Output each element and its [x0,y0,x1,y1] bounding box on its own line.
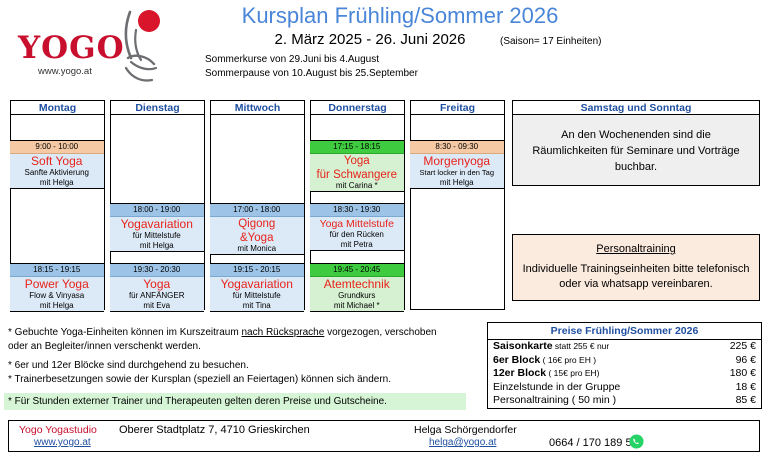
day-body-mittwoch: 17:00 - 18:00 Qigong &Yoga mit Monica 19… [210,115,305,310]
slot-time: 17:00 - 18:00 [210,204,304,217]
price-row: Einzelstunde in der Gruppe 18 € [488,381,761,395]
price-label-bold: Saisonkarte [493,340,553,352]
weekend-title: Samstag und Sonntag [512,100,760,115]
weekend-line-2: Räumlichkeiten für Seminare und Vorträge [519,143,753,159]
slot-description: Start locker in den Tag [410,168,504,178]
note-item: * Trainerbesetzungen sowie der Kursplan … [8,373,473,387]
slot-class-name: Atemtechnik [310,277,404,291]
slot-trainer: mit Petra [310,240,404,250]
schedule-grid: Montag 9:00 - 10:00 Soft Yoga Sanfte Akt… [0,100,768,315]
slot-class-name: Qigong [210,217,304,231]
whatsapp-icon[interactable] [629,434,644,449]
day-column-montag: Montag 9:00 - 10:00 Soft Yoga Sanfte Akt… [10,100,105,310]
slot-description: Grundkurs [310,291,404,301]
price-row: Saisonkarte statt 255 € nur 225 € [488,340,761,354]
footer-address: Oberer Stadtplatz 7, 4710 Grieskirchen [119,424,310,436]
day-column-dienstag: Dienstag 18:00 - 19:00 Yogavariation für… [110,100,205,310]
slot-description: Flow & Vinyasa [10,291,104,301]
price-value: 18 € [736,381,756,395]
price-label-rest: Personaltraining ( 50 min ) [493,394,616,406]
footer-website-link[interactable]: www.yogo.at [34,437,91,448]
class-slot[interactable]: 9:00 - 10:00 Soft Yoga Sanfte Aktivierun… [10,140,104,189]
day-column-mittwoch: Mittwoch 17:00 - 18:00 Qigong &Yoga mit … [210,100,305,310]
page-header: YOGO www.yogo.at Kursplan Frühling/Somme… [0,0,768,96]
day-body-montag: 9:00 - 10:00 Soft Yoga Sanfte Aktivierun… [10,115,105,310]
day-header-mittwoch: Mittwoch [210,100,305,115]
price-value: 85 € [736,394,756,408]
summer-courses-note: Sommerkurse von 29.Juni bis 4.August [205,54,379,65]
price-row: Personaltraining ( 50 min ) 85 € [488,394,761,408]
class-slot[interactable]: 19:15 - 20:15 Yogavariation für Mittelst… [210,263,304,312]
slot-description: für den Rücken [310,230,404,240]
day-header-donnerstag: Donnerstag [310,100,405,115]
day-header-montag: Montag [10,100,105,115]
price-label-bold: 6er Block [493,354,540,366]
price-value: 225 € [730,340,756,354]
price-label: 6er Block ( 16€ pro EH ) [493,354,596,368]
slot-class-name: Yoga [310,154,404,168]
notes-section: * Gebuchte Yoga-Einheiten können im Kurs… [8,326,473,386]
price-label: Personaltraining ( 50 min ) [493,394,616,408]
price-table-title: Preise Frühling/Sommer 2026 [488,323,761,340]
day-column-donnerstag: Donnerstag 17:15 - 18:15 Yoga für Schwan… [310,100,405,310]
note-item: oder an Begleiter/innen verschenkt werde… [8,340,473,354]
note-item: * Gebuchte Yoga-Einheiten können im Kurs… [8,326,473,340]
slot-class-name-line2: &Yoga [210,231,304,245]
price-label-rest: ( 16€ pro EH ) [540,355,596,365]
class-slot[interactable]: 17:00 - 18:00 Qigong &Yoga mit Monica [210,203,304,255]
personal-training-line-2: oder via whatsapp vereinbaren. [519,277,753,292]
note-1-part-a: * Gebuchte Yoga-Einheiten können im Kurs… [8,327,241,338]
day-body-donnerstag: 17:15 - 18:15 Yoga für Schwangere mit Ca… [310,115,405,310]
day-body-freitag: 8:30 - 09:30 Morgenyoga Start locker in … [410,115,505,310]
season-note: (Saison= 17 Einheiten) [500,36,601,47]
class-slot[interactable]: 18:00 - 19:00 Yogavariation für Mittelst… [110,203,204,252]
personal-training-line-1: Individuelle Trainingseinheiten bitte te… [519,262,753,277]
slot-description: für ANFÄNGER [110,291,204,301]
footer-contact-name: Helga Schörgendorfer [414,424,517,436]
slot-time: 18:00 - 19:00 [110,204,204,217]
price-row: 6er Block ( 16€ pro EH ) 96 € [488,354,761,368]
class-slot[interactable]: 17:15 - 18:15 Yoga für Schwangere mit Ca… [310,140,404,192]
price-table: Preise Frühling/Sommer 2026 Saisonkarte … [487,322,762,409]
slot-class-name: Soft Yoga [10,154,104,168]
slot-trainer: mit Helga [110,241,204,251]
price-row: 12er Block ( 15€ pro EH) 180 € [488,367,761,381]
slot-time: 19:45 - 20:45 [310,264,404,277]
note-1-part-b: vorgezogen, verschoben [324,327,436,338]
slot-trainer: mit Tina [210,301,304,311]
footer-studio-name: Yogo Yogastudio [19,424,97,436]
page-footer: Yogo Yogastudio www.yogo.at Oberer Stadt… [8,420,760,452]
weekend-box: Samstag und Sonntag An den Wochenenden s… [512,100,760,186]
slot-trainer: mit Eva [110,301,204,311]
day-header-freitag: Freitag [410,100,505,115]
slot-description: für Mittelstufe [110,231,204,241]
slot-class-name: Yoga Mittelstufe [310,217,404,230]
price-value: 180 € [730,367,756,381]
note-1-underlined: nach Rücksprache [241,327,324,338]
slot-class-name: Yogavariation [210,277,304,291]
note-item: * 6er und 12er Blöcke sind durchgehend z… [8,359,473,373]
class-slot[interactable]: 18:30 - 19:30 Yoga Mittelstufe für den R… [310,203,404,251]
day-header-dienstag: Dienstag [110,100,205,115]
logo-url: www.yogo.at [38,66,92,77]
price-label: Saisonkarte statt 255 € nur [493,340,609,354]
slot-description: Sanfte Aktivierung [10,168,104,178]
weekend-line-1: An den Wochenenden sind die [519,127,753,143]
slot-trainer: mit Michael * [310,301,404,311]
date-range: 2. März 2025 - 26. Juni 2026 [190,31,550,48]
slot-class-name-line2: für Schwangere [310,168,404,182]
class-slot[interactable]: 18:15 - 19:15 Power Yoga Flow & Vinyasa … [10,263,104,312]
slot-class-name: Yogavariation [110,217,204,231]
price-label-rest: ( 15€ pro EH) [546,368,599,378]
slot-time: 18:30 - 19:30 [310,204,404,217]
slot-trainer: mit Monica [210,244,304,254]
slot-trainer: mit Helga [410,178,504,188]
class-slot[interactable]: 19:45 - 20:45 Atemtechnik Grundkurs mit … [310,263,404,312]
slot-time: 19:30 - 20:30 [110,264,204,277]
price-label: Einzelstunde in der Gruppe [493,381,620,395]
slot-time: 19:15 - 20:15 [210,264,304,277]
footer-phone: 0664 / 170 189 5 [549,437,632,449]
price-value: 96 € [736,354,756,368]
slot-description: für Mittelstufe [210,291,304,301]
personal-training-box: Personaltraining Individuelle Trainingse… [512,234,760,301]
price-label-bold: 12er Block [493,367,546,379]
yoga-figure-icon [104,8,174,88]
slot-time: 9:00 - 10:00 [10,141,104,154]
slot-time: 8:30 - 09:30 [410,141,504,154]
slot-trainer: mit Helga [10,301,104,311]
day-body-dienstag: 18:00 - 19:00 Yogavariation für Mittelst… [110,115,205,310]
day-column-freitag: Freitag 8:30 - 09:30 Morgenyoga Start lo… [410,100,505,310]
price-label-rest: Einzelstunde in der Gruppe [493,381,620,393]
slot-class-name: Yoga [110,277,204,291]
slot-class-name: Morgenyoga [410,154,504,168]
slot-class-name: Power Yoga [10,277,104,291]
slot-time: 17:15 - 18:15 [310,141,404,154]
slot-trainer: mit Carina * [310,181,404,191]
page-title: Kursplan Frühling/Sommer 2026 [190,3,610,29]
slot-trainer: mit Helga [10,178,104,188]
note-highlight: * Für Stunden externer Trainer und Thera… [4,393,466,410]
logo: YOGO www.yogo.at [8,8,188,88]
price-label: 12er Block ( 15€ pro EH) [493,367,600,381]
price-label-rest: statt 255 € nur [553,341,610,351]
class-slot[interactable]: 19:30 - 20:30 Yoga für ANFÄNGER mit Eva [110,263,204,312]
slot-time: 18:15 - 19:15 [10,264,104,277]
class-slot[interactable]: 8:30 - 09:30 Morgenyoga Start locker in … [410,140,504,189]
footer-email-link[interactable]: helga@yogo.at [429,437,496,448]
summer-break-note: Sommerpause von 10.August bis 25.Septemb… [205,68,418,79]
weekend-body: An den Wochenenden sind die Räumlichkeit… [512,115,760,186]
weekend-line-3: buchbar. [519,159,753,175]
personal-training-title: Personaltraining [519,243,753,255]
